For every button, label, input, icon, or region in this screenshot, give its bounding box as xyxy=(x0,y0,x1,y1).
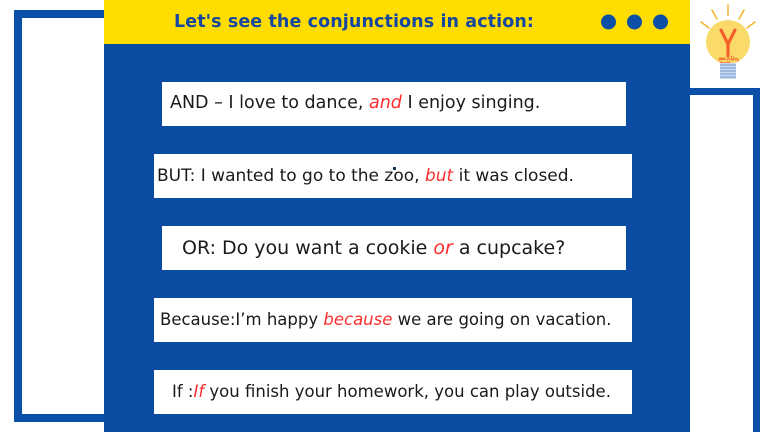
decorative-frame-left xyxy=(14,10,118,422)
title-bar: Let's see the conjunctions in action: xyxy=(104,0,690,44)
conjunction-and: and xyxy=(369,93,402,113)
main-blue-panel: Let's see the conjunctions in action: AN… xyxy=(104,0,690,432)
lightbulb-logo xyxy=(694,2,762,86)
sentence-box-or: OR: Do you want a cookie or a cupcake? xyxy=(162,226,626,270)
sentence-line-but: BUT: I wanted to go to the zoo, but it w… xyxy=(157,168,574,185)
sentence-line-because: Because:I’m happy because we are going o… xyxy=(160,312,612,329)
lightbulb-base xyxy=(720,63,736,79)
sentence-prefix: Because:I’m happy xyxy=(160,310,323,329)
window-dot-1[interactable] xyxy=(601,15,616,30)
sentence-prefix: OR: Do you want a cookie xyxy=(182,237,433,259)
sentence-prefix: BUT: I wanted to go to the zoo, xyxy=(157,166,425,186)
sentence-suffix: a cupcake? xyxy=(453,237,565,259)
conjunction-if: If xyxy=(193,382,204,401)
sentence-prefix: If : xyxy=(172,382,193,401)
conjunction-but: but xyxy=(425,166,453,186)
conjunction-or: or xyxy=(433,237,452,259)
decorative-frame-right xyxy=(688,88,760,432)
stray-speck xyxy=(393,167,396,170)
conjunction-because: because xyxy=(323,310,392,329)
sentence-line-if: If :If you finish your homework, you can… xyxy=(160,384,611,401)
sentence-line-and: AND – I love to dance, and I enjoy singi… xyxy=(170,95,540,113)
sentence-list: AND – I love to dance, and I enjoy singi… xyxy=(104,44,690,432)
sentence-prefix: AND – I love to dance, xyxy=(170,93,369,113)
sentence-suffix: we are going on vacation. xyxy=(392,310,611,329)
sentence-box-because: Because:I’m happy because we are going o… xyxy=(154,298,632,342)
sentence-line-or: OR: Do you want a cookie or a cupcake? xyxy=(170,239,565,258)
window-dot-3[interactable] xyxy=(653,15,668,30)
sentence-box-but: BUT: I wanted to go to the zoo, but it w… xyxy=(154,154,632,198)
sentence-suffix: I enjoy singing. xyxy=(402,93,540,113)
window-dots-group xyxy=(601,15,668,30)
sentence-box-and: AND – I love to dance, and I enjoy singi… xyxy=(162,82,626,126)
slide-canvas: Let's see the conjunctions in action: AN… xyxy=(0,0,768,432)
sentence-box-if: If :If you finish your homework, you can… xyxy=(154,370,632,414)
sentence-suffix: it was closed. xyxy=(453,166,574,186)
sentence-suffix: you finish your homework, you can play o… xyxy=(204,382,611,401)
window-dot-2[interactable] xyxy=(627,15,642,30)
